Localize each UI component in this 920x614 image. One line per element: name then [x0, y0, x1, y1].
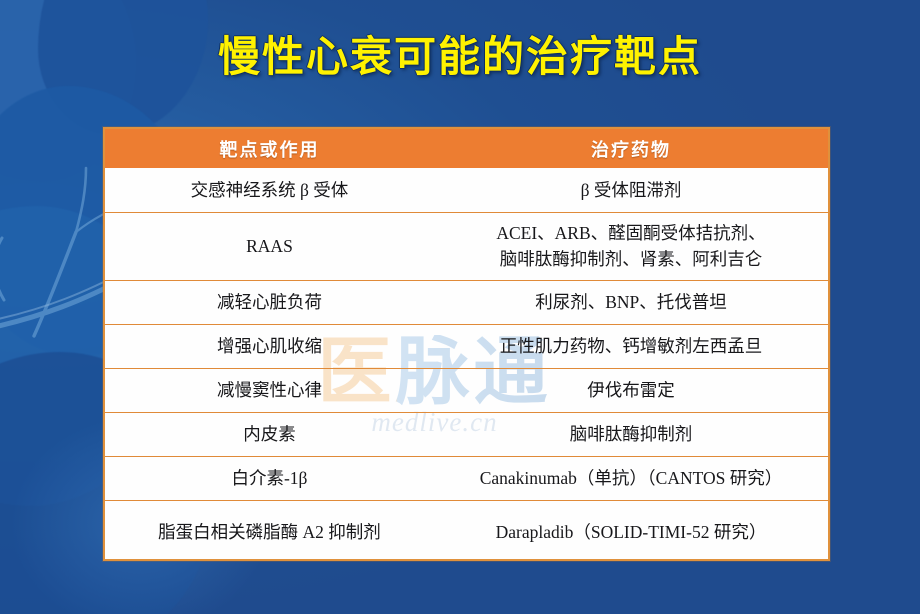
cell-target-text: RAAS [113, 233, 426, 259]
table-body: 交感神经系统 β 受体 β 受体阻滞剂 RAAS ACEI、ARB、醛固酮受体拮… [105, 168, 828, 561]
column-header-target: 靶点或作用 [105, 129, 434, 168]
table-row: 脂蛋白相关磷脂酶 A2 抑制剂 Darapladib（SOLID-TIMI-52… [105, 500, 828, 561]
cell-target-text: 减慢窦性心律 [113, 377, 426, 403]
cell-drug: Canakinumab（单抗）（CANTOS 研究） [434, 456, 828, 500]
slide-canvas: 慢性心衰可能的治疗靶点 医脉通 medlive.cn 靶点或作用 治疗药物 交感… [0, 0, 920, 614]
cell-target: 脂蛋白相关磷脂酶 A2 抑制剂 [105, 500, 434, 561]
cell-drug-text: 脑啡肽酶抑制剂、肾素、阿利吉仑 [442, 246, 820, 272]
cell-drug: 正性肌力药物、钙增敏剂左西孟旦 [434, 324, 828, 368]
column-header-drug: 治疗药物 [434, 129, 828, 168]
cell-drug: ACEI、ARB、醛固酮受体拮抗剂、 脑啡肽酶抑制剂、肾素、阿利吉仑 [434, 212, 828, 280]
table-row: 交感神经系统 β 受体 β 受体阻滞剂 [105, 168, 828, 212]
page-title: 慢性心衰可能的治疗靶点 [0, 34, 920, 80]
cell-drug: 脑啡肽酶抑制剂 [434, 412, 828, 456]
cell-target-text: 脂蛋白相关磷脂酶 A2 抑制剂 [131, 519, 408, 545]
cell-drug: 伊伐布雷定 [434, 368, 828, 412]
cell-drug-text: Darapladib（SOLID-TIMI-52 研究） [442, 519, 820, 545]
cell-drug-text: 正性肌力药物、钙增敏剂左西孟旦 [442, 333, 820, 359]
table-row: 减轻心脏负荷 利尿剂、BNP、托伐普坦 [105, 280, 828, 324]
cell-target: 白介素-1β [105, 456, 434, 500]
cell-drug-text: 利尿剂、BNP、托伐普坦 [442, 289, 820, 315]
table-row: 内皮素 脑啡肽酶抑制剂 [105, 412, 828, 456]
cell-drug: 利尿剂、BNP、托伐普坦 [434, 280, 828, 324]
table-row: 白介素-1β Canakinumab（单抗）（CANTOS 研究） [105, 456, 828, 500]
cell-target-text: 减轻心脏负荷 [113, 289, 426, 315]
cell-drug-text: 伊伐布雷定 [442, 377, 820, 403]
treatment-targets-table: 靶点或作用 治疗药物 交感神经系统 β 受体 β 受体阻滞剂 RAAS [105, 129, 828, 561]
cell-drug-text: 脑啡肽酶抑制剂 [442, 421, 820, 447]
cell-target: 增强心肌收缩 [105, 324, 434, 368]
table-row: RAAS ACEI、ARB、醛固酮受体拮抗剂、 脑啡肽酶抑制剂、肾素、阿利吉仑 [105, 212, 828, 280]
cell-drug-text: ACEI、ARB、醛固酮受体拮抗剂、 [442, 220, 820, 246]
cell-drug: Darapladib（SOLID-TIMI-52 研究） [434, 500, 828, 561]
cell-target: 减慢窦性心律 [105, 368, 434, 412]
cell-target-text: 内皮素 [113, 421, 426, 447]
cell-target: 减轻心脏负荷 [105, 280, 434, 324]
table-row: 增强心肌收缩 正性肌力药物、钙增敏剂左西孟旦 [105, 324, 828, 368]
cell-target: RAAS [105, 212, 434, 280]
cell-target-text: 白介素-1β [113, 465, 426, 491]
cell-target-text: 增强心肌收缩 [113, 333, 426, 359]
table-row: 减慢窦性心律 伊伐布雷定 [105, 368, 828, 412]
cell-drug-text: Canakinumab（单抗）（CANTOS 研究） [442, 465, 820, 491]
cell-drug-text: β 受体阻滞剂 [442, 177, 820, 203]
cell-target-text: 交感神经系统 β 受体 [113, 177, 426, 203]
cell-target: 交感神经系统 β 受体 [105, 168, 434, 212]
cell-drug: β 受体阻滞剂 [434, 168, 828, 212]
table-header-row: 靶点或作用 治疗药物 [105, 129, 828, 168]
treatment-targets-table-container: 医脉通 medlive.cn 靶点或作用 治疗药物 交感神经系统 β 受体 β … [103, 127, 830, 561]
cell-target: 内皮素 [105, 412, 434, 456]
